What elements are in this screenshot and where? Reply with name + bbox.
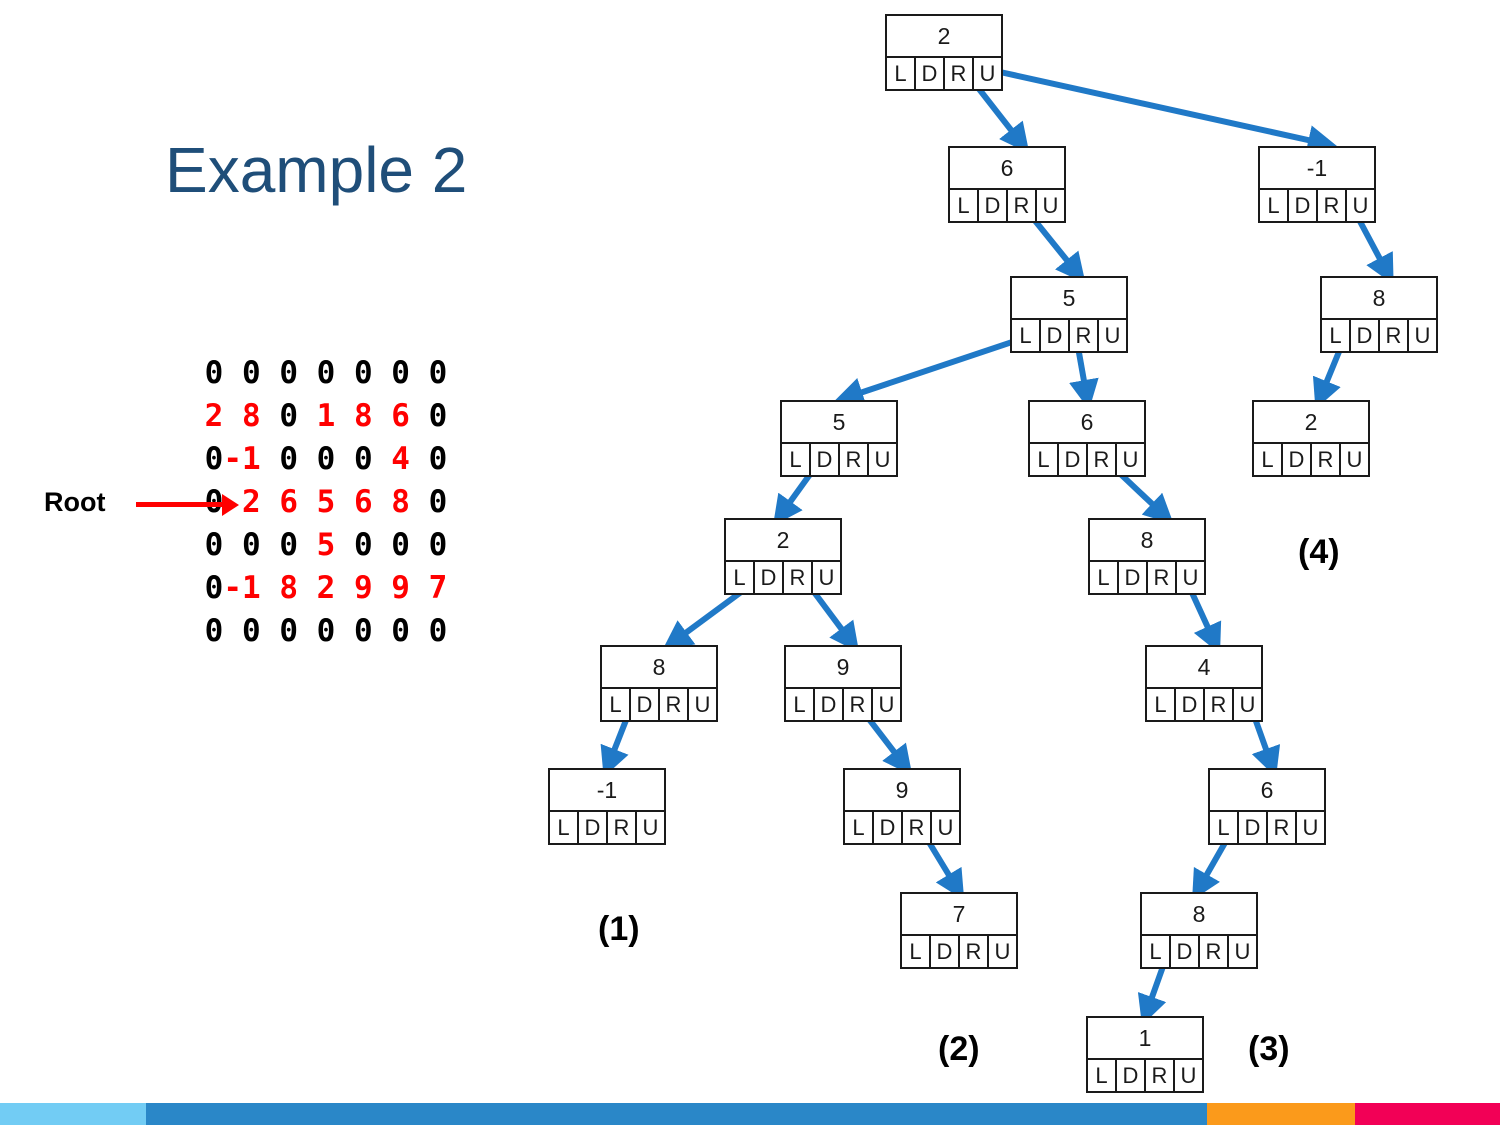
pointer-cell-d[interactable]: D xyxy=(1171,936,1200,967)
tree-node[interactable]: 2LDRU xyxy=(1252,400,1370,477)
pointer-cell-d[interactable]: D xyxy=(1289,190,1318,221)
pointer-cell-d[interactable]: D xyxy=(1119,562,1148,593)
pointer-cell-l[interactable]: L xyxy=(845,812,874,843)
tree-node-pointers: LDRU xyxy=(1260,190,1374,221)
pointer-cell-u[interactable]: U xyxy=(1177,562,1204,593)
pointer-cell-d[interactable]: D xyxy=(1351,320,1380,351)
pointer-cell-u[interactable]: U xyxy=(1099,320,1126,351)
pointer-cell-r[interactable]: R xyxy=(1200,936,1229,967)
tree-node-value: 8 xyxy=(1142,894,1256,936)
pointer-cell-l[interactable]: L xyxy=(1210,812,1239,843)
pointer-cell-d[interactable]: D xyxy=(579,812,608,843)
tree-node-value: 9 xyxy=(845,770,959,812)
pointer-cell-l[interactable]: L xyxy=(1030,444,1059,475)
tree-node-pointers: LDRU xyxy=(1210,812,1324,843)
pointer-cell-u[interactable]: U xyxy=(869,444,896,475)
tree-node[interactable]: 2LDRU xyxy=(885,14,1003,91)
tree-node-value: -1 xyxy=(550,770,664,812)
pointer-cell-l[interactable]: L xyxy=(726,562,755,593)
pointer-cell-d[interactable]: D xyxy=(916,58,945,89)
pointer-cell-u[interactable]: U xyxy=(813,562,840,593)
tree-node[interactable]: 2LDRU xyxy=(724,518,842,595)
tree-node-value: 9 xyxy=(786,647,900,689)
pointer-cell-l[interactable]: L xyxy=(1147,689,1176,720)
tree-node[interactable]: 5LDRU xyxy=(1010,276,1128,353)
pointer-cell-d[interactable]: D xyxy=(1176,689,1205,720)
pointer-cell-u[interactable]: U xyxy=(1347,190,1374,221)
pointer-cell-l[interactable]: L xyxy=(1088,1060,1117,1091)
tree-node-pointers: LDRU xyxy=(550,812,664,843)
tree-node-pointers: LDRU xyxy=(726,562,840,593)
pointer-cell-r[interactable]: R xyxy=(1146,1060,1175,1091)
pointer-cell-u[interactable]: U xyxy=(989,936,1016,967)
pointer-cell-l[interactable]: L xyxy=(887,58,916,89)
tree-node[interactable]: 9LDRU xyxy=(843,768,961,845)
tree-node-value: 6 xyxy=(1210,770,1324,812)
pointer-cell-u[interactable]: U xyxy=(1341,444,1368,475)
tree-node[interactable]: 9LDRU xyxy=(784,645,902,722)
pointer-cell-l[interactable]: L xyxy=(1142,936,1171,967)
pointer-cell-d[interactable]: D xyxy=(1117,1060,1146,1091)
tree-node-pointers: LDRU xyxy=(950,190,1064,221)
pointer-cell-r[interactable]: R xyxy=(840,444,869,475)
tree-node-pointers: LDRU xyxy=(1142,936,1256,967)
pointer-cell-u[interactable]: U xyxy=(1175,1060,1202,1091)
tree-node[interactable]: 8LDRU xyxy=(1088,518,1206,595)
tree-node-pointers: LDRU xyxy=(1254,444,1368,475)
pointer-cell-r[interactable]: R xyxy=(784,562,813,593)
pointer-cell-r[interactable]: R xyxy=(660,689,689,720)
pointer-cell-r[interactable]: R xyxy=(903,812,932,843)
pointer-cell-d[interactable]: D xyxy=(1239,812,1268,843)
tree-node-value: 4 xyxy=(1147,647,1261,689)
pointer-cell-u[interactable]: U xyxy=(974,58,1001,89)
pointer-cell-l[interactable]: L xyxy=(1260,190,1289,221)
pointer-cell-l[interactable]: L xyxy=(782,444,811,475)
pointer-cell-d[interactable]: D xyxy=(755,562,784,593)
tree-node[interactable]: 4LDRU xyxy=(1145,645,1263,722)
pointer-cell-d[interactable]: D xyxy=(811,444,840,475)
pointer-cell-r[interactable]: R xyxy=(960,936,989,967)
tree-node-value: 5 xyxy=(1012,278,1126,320)
tree-node-value: 2 xyxy=(887,16,1001,58)
tree-node[interactable]: 6LDRU xyxy=(1028,400,1146,477)
pointer-cell-r[interactable]: R xyxy=(1205,689,1234,720)
pointer-cell-l[interactable]: L xyxy=(902,936,931,967)
pointer-cell-r[interactable]: R xyxy=(608,812,637,843)
pointer-cell-d[interactable]: D xyxy=(979,190,1008,221)
tree-node-value: 2 xyxy=(1254,402,1368,444)
pointer-cell-l[interactable]: L xyxy=(602,689,631,720)
pointer-cell-r[interactable]: R xyxy=(1318,190,1347,221)
tree-node-pointers: LDRU xyxy=(845,812,959,843)
pointer-cell-r[interactable]: R xyxy=(1268,812,1297,843)
pointer-cell-r[interactable]: R xyxy=(1088,444,1117,475)
pointer-cell-l[interactable]: L xyxy=(1012,320,1041,351)
tree-node[interactable]: 7LDRU xyxy=(900,892,1018,969)
pointer-cell-l[interactable]: L xyxy=(1090,562,1119,593)
pointer-cell-u[interactable]: U xyxy=(873,689,900,720)
pointer-cell-d[interactable]: D xyxy=(631,689,660,720)
pointer-cell-u[interactable]: U xyxy=(1037,190,1064,221)
pointer-cell-u[interactable]: U xyxy=(1229,936,1256,967)
pointer-cell-r[interactable]: R xyxy=(1148,562,1177,593)
pointer-cell-l[interactable]: L xyxy=(786,689,815,720)
tree-node-pointers: LDRU xyxy=(786,689,900,720)
tree-node-value: 1 xyxy=(1088,1018,1202,1060)
pointer-cell-u[interactable]: U xyxy=(637,812,664,843)
tree-node-pointers: LDRU xyxy=(1322,320,1436,351)
tree-node-pointers: LDRU xyxy=(1147,689,1261,720)
tree-node[interactable]: -1LDRU xyxy=(548,768,666,845)
tree-node-pointers: LDRU xyxy=(1088,1060,1202,1091)
pointer-cell-l[interactable]: L xyxy=(1322,320,1351,351)
pointer-cell-d[interactable]: D xyxy=(931,936,960,967)
tree-node-value: 6 xyxy=(1030,402,1144,444)
pointer-cell-d[interactable]: D xyxy=(815,689,844,720)
pointer-cell-u[interactable]: U xyxy=(689,689,716,720)
tree-node[interactable]: 6LDRU xyxy=(1208,768,1326,845)
tree-node-value: 2 xyxy=(726,520,840,562)
tree-node-value: 5 xyxy=(782,402,896,444)
pointer-cell-u[interactable]: U xyxy=(1297,812,1324,843)
tree-node-value: 6 xyxy=(950,148,1064,190)
pointer-cell-d[interactable]: D xyxy=(1059,444,1088,475)
tree-node-value: 7 xyxy=(902,894,1016,936)
tree-node[interactable]: 1LDRU xyxy=(1086,1016,1204,1093)
pointer-cell-u[interactable]: U xyxy=(1234,689,1261,720)
tree-node-pointers: LDRU xyxy=(902,936,1016,967)
pointer-cell-r[interactable]: R xyxy=(844,689,873,720)
tree-node[interactable]: 8LDRU xyxy=(1320,276,1438,353)
slide-canvas: Example 2 0 0 0 0 0 0 0 2 8 0 1 8 6 0 0-… xyxy=(0,0,1500,1125)
tree-node-value: 8 xyxy=(1090,520,1204,562)
tree-edge-arrow xyxy=(1000,72,1326,144)
pointer-cell-l[interactable]: L xyxy=(550,812,579,843)
tree-node-pointers: LDRU xyxy=(1090,562,1204,593)
tree-node-pointers: LDRU xyxy=(782,444,896,475)
tree-node[interactable]: 8LDRU xyxy=(600,645,718,722)
pointer-cell-u[interactable]: U xyxy=(1117,444,1144,475)
pointer-cell-d[interactable]: D xyxy=(1283,444,1312,475)
tree-node-pointers: LDRU xyxy=(887,58,1001,89)
tree-node-pointers: LDRU xyxy=(602,689,716,720)
tree-node[interactable]: -1LDRU xyxy=(1258,146,1376,223)
tree-node-value: 8 xyxy=(602,647,716,689)
pointer-cell-d[interactable]: D xyxy=(874,812,903,843)
pointer-cell-r[interactable]: R xyxy=(1008,190,1037,221)
tree-node[interactable]: 8LDRU xyxy=(1140,892,1258,969)
tree-node-pointers: LDRU xyxy=(1030,444,1144,475)
pointer-cell-r[interactable]: R xyxy=(1380,320,1409,351)
pointer-cell-l[interactable]: L xyxy=(950,190,979,221)
tree-node[interactable]: 5LDRU xyxy=(780,400,898,477)
tree-node-value: 8 xyxy=(1322,278,1436,320)
pointer-cell-l[interactable]: L xyxy=(1254,444,1283,475)
pointer-cell-r[interactable]: R xyxy=(1070,320,1099,351)
pointer-cell-u[interactable]: U xyxy=(1409,320,1436,351)
tree-node-value: -1 xyxy=(1260,148,1374,190)
tree-node-pointers: LDRU xyxy=(1012,320,1126,351)
tree-node[interactable]: 6LDRU xyxy=(948,146,1066,223)
pointer-cell-d[interactable]: D xyxy=(1041,320,1070,351)
pointer-cell-r[interactable]: R xyxy=(945,58,974,89)
pointer-cell-u[interactable]: U xyxy=(932,812,959,843)
pointer-cell-r[interactable]: R xyxy=(1312,444,1341,475)
